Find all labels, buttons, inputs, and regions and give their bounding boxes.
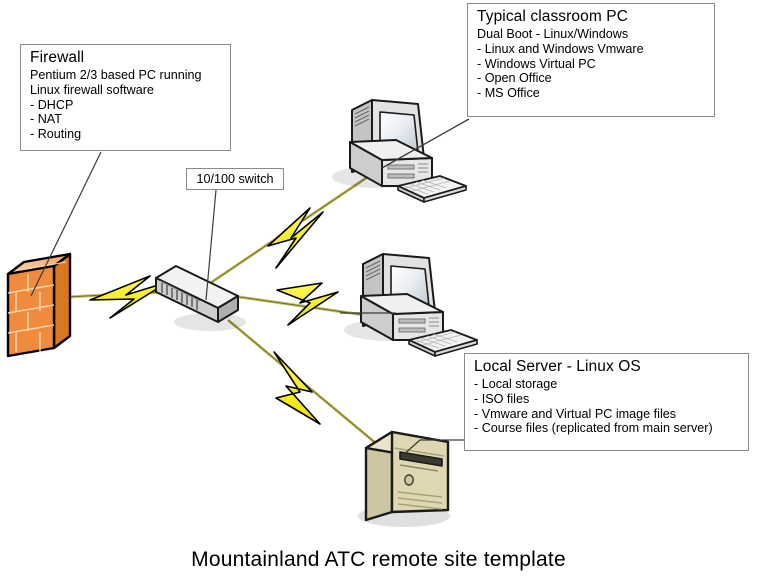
firewall-brick-icon[interactable] [8,254,70,356]
callout-firewall-line-3: - NAT [30,112,223,127]
classroom-pc-top-icon[interactable] [332,100,466,202]
callout-classroom-pc[interactable]: Typical classroom PC Dual Boot - Linux/W… [467,3,715,117]
callout-switch-label: 10/100 switch [196,172,273,187]
callout-switch[interactable]: 10/100 switch [186,168,284,190]
callout-classroom-pc-line-2: - Windows Virtual PC [477,57,707,72]
callout-local-server-line-2: - Vmware and Virtual PC image files [474,407,741,422]
link-switch-server [228,320,390,455]
callout-local-server[interactable]: Local Server - Linux OS - Local storage … [464,353,749,451]
callout-classroom-pc-line-0: Dual Boot - Linux/Windows [477,27,707,42]
leader-local-server [402,440,464,456]
callout-firewall[interactable]: Firewall Pentium 2/3 based PC running Li… [20,44,231,151]
leader-classroom-pc [382,119,469,168]
callout-classroom-pc-line-4: - MS Office [477,86,707,101]
callout-firewall-line-2: - DHCP [30,98,223,113]
network-diagram-canvas: Firewall Pentium 2/3 based PC running Li… [0,0,757,584]
callout-classroom-pc-line-1: - Linux and Windows Vmware [477,42,707,57]
link-firewall-switch [48,276,200,318]
classroom-pc-mid-icon[interactable] [344,254,477,356]
callout-firewall-line-0: Pentium 2/3 based PC running [30,68,223,83]
callout-classroom-pc-line-3: - Open Office [477,71,707,86]
diagram-caption: Mountainland ATC remote site template [0,548,757,572]
leader-firewall [31,152,101,296]
local-server-icon[interactable] [358,432,450,527]
callout-classroom-pc-title: Typical classroom PC [477,8,707,26]
callout-local-server-line-3: - Course files (replicated from main ser… [474,421,741,436]
callout-local-server-title: Local Server - Linux OS [474,358,741,376]
callout-firewall-title: Firewall [30,49,223,67]
callout-firewall-line-4: - Routing [30,127,223,142]
leader-classroom-pc-mid [399,316,464,402]
network-switch-icon[interactable] [156,266,246,331]
callout-local-server-line-1: - ISO files [474,392,741,407]
callout-local-server-line-0: - Local storage [474,377,741,392]
callout-firewall-line-1: Linux firewall software [30,83,223,98]
leader-switch [206,190,216,300]
link-switch-pc-mid [205,283,385,325]
